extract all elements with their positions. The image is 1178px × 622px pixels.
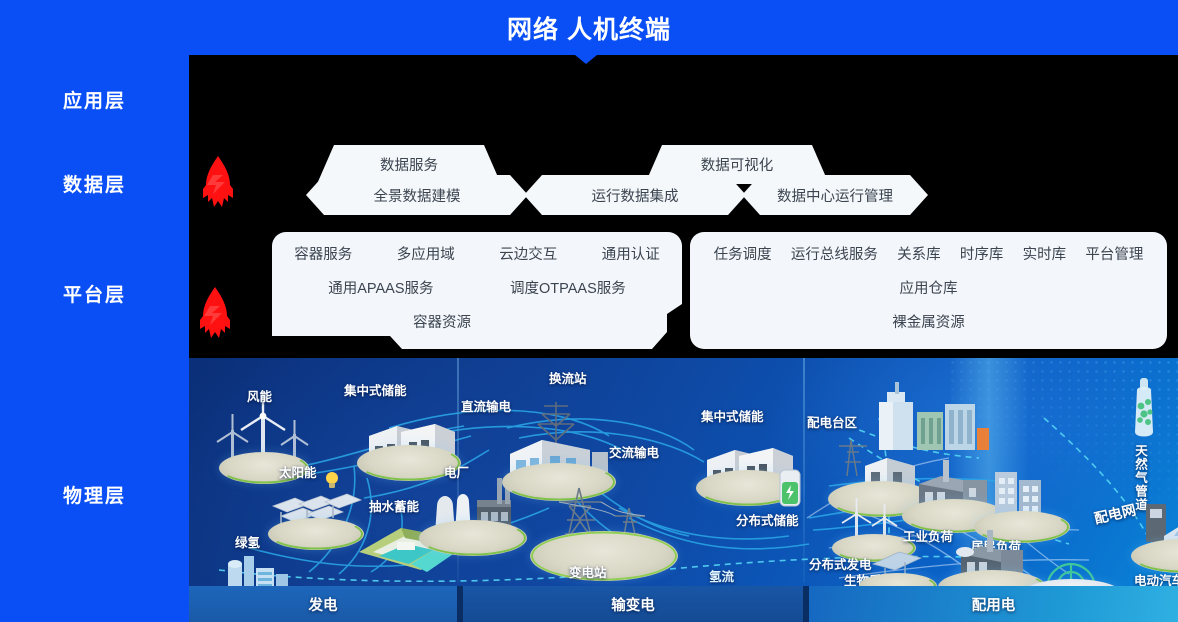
platform-chip-multi-app-domain[interactable]: 多应用域 [395, 243, 457, 264]
sidebar-item-platform-layer[interactable]: 平台层 [0, 280, 189, 307]
page-title: 网络 人机终端 [0, 10, 1178, 46]
platform-right-row-2: 应用仓库 [690, 270, 1167, 304]
platform-chip-otpaas-service[interactable]: 调度OTPAAS服务 [508, 277, 628, 298]
section-band-transmission[interactable]: 输变电 [463, 586, 803, 622]
platform-chip-cloud-edge[interactable]: 云边交互 [497, 243, 559, 264]
node-label-distribution-station: 配电台区 [807, 412, 857, 431]
node-label-converter-station: 换流站 [549, 368, 587, 387]
stage-notch-icon [575, 55, 597, 64]
platform-left-row-1: 容器服务 多应用域 云边交互 通用认证 [272, 236, 682, 270]
rocket-marker-icon [194, 286, 236, 342]
node-label-wind-power: 风能 [247, 386, 272, 405]
node-label-ac-transmission: 交流输电 [609, 442, 659, 461]
platform-left-row-2: 通用APAAS服务 调度OTPAAS服务 [272, 270, 682, 304]
node-label-distributed-storage: 分布式储能 [736, 510, 799, 529]
node-natural-gas-tank[interactable] [1129, 376, 1159, 442]
sidebar-item-physical-layer[interactable]: 物理层 [0, 481, 189, 508]
platform-chip-task-scheduling[interactable]: 任务调度 [712, 243, 774, 264]
section-band-generation[interactable]: 发电 [189, 586, 457, 622]
diagram-root: 网络 人机终端 应用层 数据层 平台层 物理层 数据服务 数据可视化 全景数据建… [0, 0, 1178, 622]
platform-chip-container-resource[interactable]: 容器资源 [411, 311, 473, 332]
platform-left-panel: 容器服务 多应用域 云边交互 通用认证 通用APAAS服务 调度OTPAAS服务… [272, 232, 682, 349]
data-layer-chip-panoramic-modeling[interactable]: 全景数据建模 [306, 175, 528, 215]
sidebar-item-data-layer[interactable]: 数据层 [0, 170, 189, 197]
platform-right-row-3: 裸金属资源 [690, 304, 1167, 338]
data-layer-group: 数据服务 数据可视化 全景数据建模 运行数据集成 数据中心运行管理 [189, 140, 1178, 220]
platform-chip-bare-metal[interactable]: 裸金属资源 [890, 311, 967, 332]
platform-right-panel: 任务调度 运行总线服务 关系库 时序库 实时库 平台管理 应用仓库 裸金属资源 [690, 232, 1167, 349]
platform-chip-apaas-service[interactable]: 通用APAAS服务 [326, 277, 435, 298]
platform-chip-general-auth[interactable]: 通用认证 [600, 243, 662, 264]
section-bands: 发电 输变电 配用电 [189, 586, 1178, 622]
node-label-hydrogen-flow: 氢流 [709, 566, 734, 585]
lightbulb-icon [324, 470, 340, 492]
platform-chip-realtime-db[interactable]: 实时库 [1021, 243, 1069, 264]
platform-chip-timeseries-db[interactable]: 时序库 [958, 243, 1006, 264]
node-distributed-storage[interactable] [777, 466, 803, 510]
node-label-green-hydrogen: 绿氢 [235, 532, 260, 551]
platform-chip-relational-db[interactable]: 关系库 [895, 243, 943, 264]
platform-chip-app-repository[interactable]: 应用仓库 [898, 277, 960, 298]
node-label-centralized-storage-mid: 集中式储能 [701, 406, 764, 425]
node-electric-vehicle[interactable] [1124, 498, 1178, 574]
physical-layer-illustration: 风能 集中式储能 直流输电 [189, 358, 1178, 622]
data-layer-chip-datacenter-ops[interactable]: 数据中心运行管理 [742, 175, 928, 215]
node-label-centralized-storage: 集中式储能 [344, 380, 407, 399]
platform-chip-platform-mgmt[interactable]: 平台管理 [1083, 243, 1145, 264]
node-label-solar-power: 太阳能 [279, 462, 317, 481]
platform-right-row-1: 任务调度 运行总线服务 关系库 时序库 实时库 平台管理 [690, 236, 1167, 270]
node-label-substation: 变电站 [569, 562, 607, 581]
platform-chip-runtime-bus[interactable]: 运行总线服务 [789, 243, 880, 264]
node-label-power-plant: 电厂 [444, 462, 469, 481]
sidebar-item-application-layer[interactable]: 应用层 [0, 86, 189, 113]
platform-left-row-3: 容器资源 [272, 304, 682, 338]
platform-chip-container-service[interactable]: 容器服务 [292, 243, 354, 264]
section-band-distribution[interactable]: 配用电 [809, 586, 1178, 622]
data-layer-chip-runtime-integration[interactable]: 运行数据集成 [524, 175, 746, 215]
